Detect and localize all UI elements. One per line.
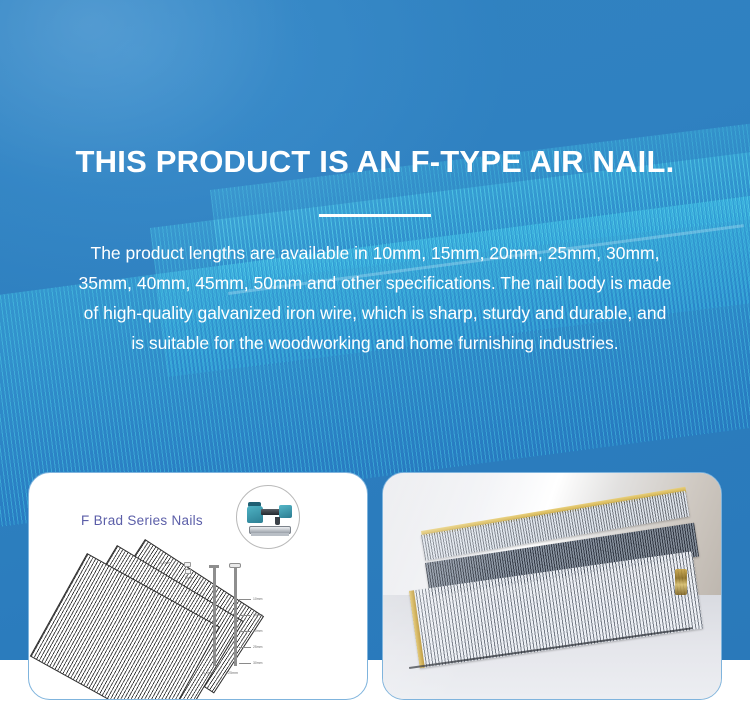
nail-gun-trigger-icon: [275, 517, 280, 525]
nail-gun-foot-icon: [251, 533, 289, 536]
length-tick-label-1: 15mm: [253, 613, 262, 617]
loose-nail-clips: [675, 569, 687, 595]
length-tick-4: [239, 663, 251, 664]
pin-shaft-narrow: [213, 568, 216, 666]
product-card-diagram[interactable]: F Brad Series Nails 1.0mm 5mm: [28, 472, 368, 700]
length-tick-label-3: 25mm: [253, 645, 262, 649]
length-tick-label-4: 30mm: [253, 661, 262, 665]
nail-gun-motor-icon: [279, 505, 292, 518]
length-tick-label-2: 20mm: [253, 629, 262, 633]
product-card-photo[interactable]: [382, 472, 722, 700]
product-banner-page: THIS PRODUCT IS AN F-TYPE AIR NAIL. The …: [0, 0, 750, 725]
length-tick-0: [239, 599, 251, 600]
gauge-shank-label: 5mm: [185, 576, 193, 580]
pin-diameter-label-narrow: 1.0mm: [203, 671, 214, 675]
length-tick-2: [239, 631, 251, 632]
gauge-head-diagram: [184, 562, 191, 567]
gauge-head-label: 1.0mm: [160, 561, 170, 565]
length-tick-3: [239, 647, 251, 648]
gauge-shank-diagram: [185, 569, 191, 574]
length-tick-label-0: 10mm: [253, 597, 262, 601]
brand-label: F Brad Series Nails: [81, 513, 203, 528]
pin-diameter-label-wide: 1.25mm: [225, 671, 238, 675]
product-image-cards: F Brad Series Nails 1.0mm 5mm: [0, 0, 750, 725]
pin-shaft-wide: [234, 567, 237, 666]
length-tick-1: [239, 615, 251, 616]
nail-gun-inset: [236, 485, 300, 549]
